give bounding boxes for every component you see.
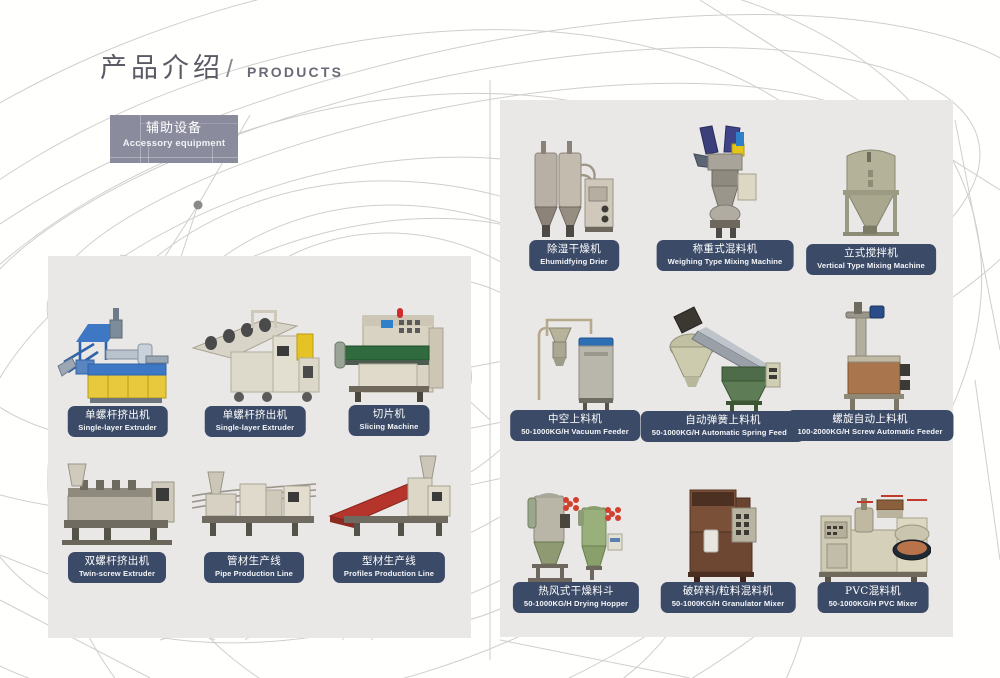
page-title-cn: 产品介绍 — [100, 46, 224, 85]
product-label: 自动弹簧上料机 50-1000KG/H Automatic Spring Fee… — [641, 411, 805, 442]
product-label: 热风式干燥料斗 50-1000KG/H Drying Hopper — [513, 582, 639, 613]
product-name-en: 50-1000KG/H Automatic Spring Feeder — [652, 427, 794, 438]
product-label: 称重式混料机 Weighing Type Mixing Machine — [657, 240, 794, 271]
product-card-weighing-type-mixing-machine[interactable]: 称重式混料机 Weighing Type Mixing Machine — [686, 122, 764, 265]
product-card-granulator-mixer[interactable]: 破碎料/粒料混料机 50-1000KG/H Granulator Mixer — [678, 478, 778, 610]
product-card-pipe-production-line[interactable]: 管材生产线 Pipe Production Line — [188, 450, 320, 578]
product-label: 除湿干燥机 Ehumidfying Drier — [529, 240, 619, 271]
product-name-en: 50-1000KG/H Granulator Mixer — [672, 598, 785, 609]
vertical-type-mixing-machine-photo — [835, 140, 907, 244]
profiles-production-line-photo — [324, 450, 454, 554]
product-name-cn: PVC混料机 — [829, 585, 918, 598]
single-layer-extruder-photo — [50, 300, 185, 408]
product-name-cn: 切片机 — [360, 408, 419, 421]
pipe-production-line-photo — [188, 450, 320, 554]
product-name-cn: 螺旋自动上料机 — [797, 413, 942, 426]
decor-grid-line — [110, 157, 238, 158]
product-label: 破碎料/粒料混料机 50-1000KG/H Granulator Mixer — [661, 582, 796, 613]
product-label: 单螺杆挤出机 Single-layer Extruder — [67, 406, 168, 437]
product-name-cn: 立式搅拌机 — [817, 247, 925, 260]
product-name-cn: 除湿干燥机 — [540, 243, 608, 256]
product-label: 管材生产线 Pipe Production Line — [204, 552, 304, 583]
product-name-cn: 中空上料机 — [521, 413, 629, 426]
product-card-twin-screw-extruder[interactable]: 双螺杆挤出机 Twin-screw Extruder — [52, 452, 182, 578]
product-card-slicing-machine[interactable]: 切片机 Slicing Machine — [325, 298, 453, 430]
product-name-cn: 称重式混料机 — [668, 243, 783, 256]
twin-screw-extruder-photo — [52, 452, 182, 554]
product-label: 螺旋自动上料机 100-2000KG/H Screw Automatic Fee… — [786, 410, 953, 441]
product-name-en: 50-1000KG/H Vacuum Feeder — [521, 426, 629, 437]
product-name-cn: 型材生产线 — [344, 555, 434, 568]
screw-automatic-feeder-photo — [826, 298, 914, 414]
product-catalog-page: 产品介绍 / PRODUCTS 辅助设备 Accessory equipment — [0, 0, 1000, 678]
category-badge-labels: 辅助设备 Accessory equipment — [110, 115, 238, 151]
product-name-en: Twin-screw Extruder — [79, 568, 155, 579]
product-name-en: Slicing Machine — [360, 421, 419, 432]
product-name-cn: 管材生产线 — [215, 555, 293, 568]
category-name-en: Accessory equipment — [110, 137, 238, 151]
page-title: 产品介绍 / PRODUCTS — [100, 46, 343, 85]
title-separator: / — [226, 55, 233, 84]
decor-node — [194, 201, 203, 210]
dehumidifying-drier-photo — [527, 135, 621, 247]
product-label: 切片机 Slicing Machine — [349, 405, 430, 436]
product-name-cn: 单螺杆挤出机 — [78, 409, 157, 422]
granulator-mixer-photo — [678, 478, 778, 590]
category-badge-accessory-equipment[interactable]: 辅助设备 Accessory equipment — [110, 115, 238, 163]
product-name-cn: 自动弹簧上料机 — [652, 414, 794, 427]
product-card-dehumidifying-drier[interactable]: 除湿干燥机 Ehumidfying Drier — [527, 135, 621, 265]
product-label: 型材生产线 Profiles Production Line — [333, 552, 445, 583]
vacuum-feeder-photo — [527, 300, 623, 415]
product-name-en: Profiles Production Line — [344, 568, 434, 579]
product-name-en: 50-1000KG/H Drying Hopper — [524, 598, 628, 609]
product-card-vacuum-feeder[interactable]: 中空上料机 50-1000KG/H Vacuum Feeder — [527, 300, 623, 435]
product-card-single-layer-extruder-1[interactable]: 单螺杆挤出机 Single-layer Extruder — [50, 300, 185, 430]
product-card-drying-hopper[interactable]: 热风式干燥料斗 50-1000KG/H Drying Hopper — [520, 478, 632, 610]
page-title-en: PRODUCTS — [247, 64, 343, 80]
product-name-en: Pipe Production Line — [215, 568, 293, 579]
product-label: 立式搅拌机 Vertical Type Mixing Machine — [806, 244, 936, 275]
product-card-pvc-mixer[interactable]: PVC混料机 50-1000KG/H PVC Mixeг — [815, 478, 931, 610]
category-name-cn: 辅助设备 — [110, 120, 238, 137]
product-label: 双螺杆挤出机 Twin-screw Extruder — [68, 552, 166, 583]
product-name-en: 100-2000KG/H Screw Automatic Feeder — [797, 426, 942, 437]
product-name-en: Single-layer Extruder — [216, 422, 295, 433]
product-card-vertical-type-mixing-machine[interactable]: 立式搅拌机 Vertical Type Mixing Machine — [835, 140, 907, 265]
pvc-mixer-photo — [815, 478, 931, 590]
product-card-automatic-spring-feeder[interactable]: 自动弹簧上料机 50-1000KG/H Automatic Spring Fee… — [660, 305, 786, 435]
product-name-cn: 单螺杆挤出机 — [216, 409, 295, 422]
product-name-en: Vertical Type Mixing Machine — [817, 260, 925, 271]
product-name-en: Single-layer Extruder — [78, 422, 157, 433]
product-name-cn: 热风式干燥料斗 — [524, 585, 628, 598]
product-card-profiles-production-line[interactable]: 型材生产线 Profiles Production Line — [324, 450, 454, 578]
product-name-en: 50-1000KG/H PVC Mixeг — [829, 598, 918, 609]
product-name-cn: 破碎料/粒料混料机 — [672, 585, 785, 598]
single-layer-extruder-photo — [185, 300, 325, 408]
product-card-screw-automatic-feeder[interactable]: 螺旋自动上料机 100-2000KG/H Screw Automatic Fee… — [826, 298, 914, 436]
product-label: 中空上料机 50-1000KG/H Vacuum Feeder — [510, 410, 640, 441]
product-name-cn: 双螺杆挤出机 — [79, 555, 155, 568]
product-name-en: Weighing Type Mixing Machine — [668, 256, 783, 267]
weighing-type-mixing-machine-photo — [686, 122, 764, 242]
product-card-single-layer-extruder-2[interactable]: 单螺杆挤出机 Single-layer Extruder — [185, 300, 325, 430]
product-label: 单螺杆挤出机 Single-layer Extruder — [205, 406, 306, 437]
product-name-en: Ehumidfying Drier — [540, 256, 608, 267]
drying-hopper-photo — [520, 478, 632, 590]
automatic-spring-feeder-photo — [660, 305, 786, 415]
slicing-machine-photo — [325, 298, 453, 408]
product-label: PVC混料机 50-1000KG/H PVC Mixeг — [818, 582, 929, 613]
